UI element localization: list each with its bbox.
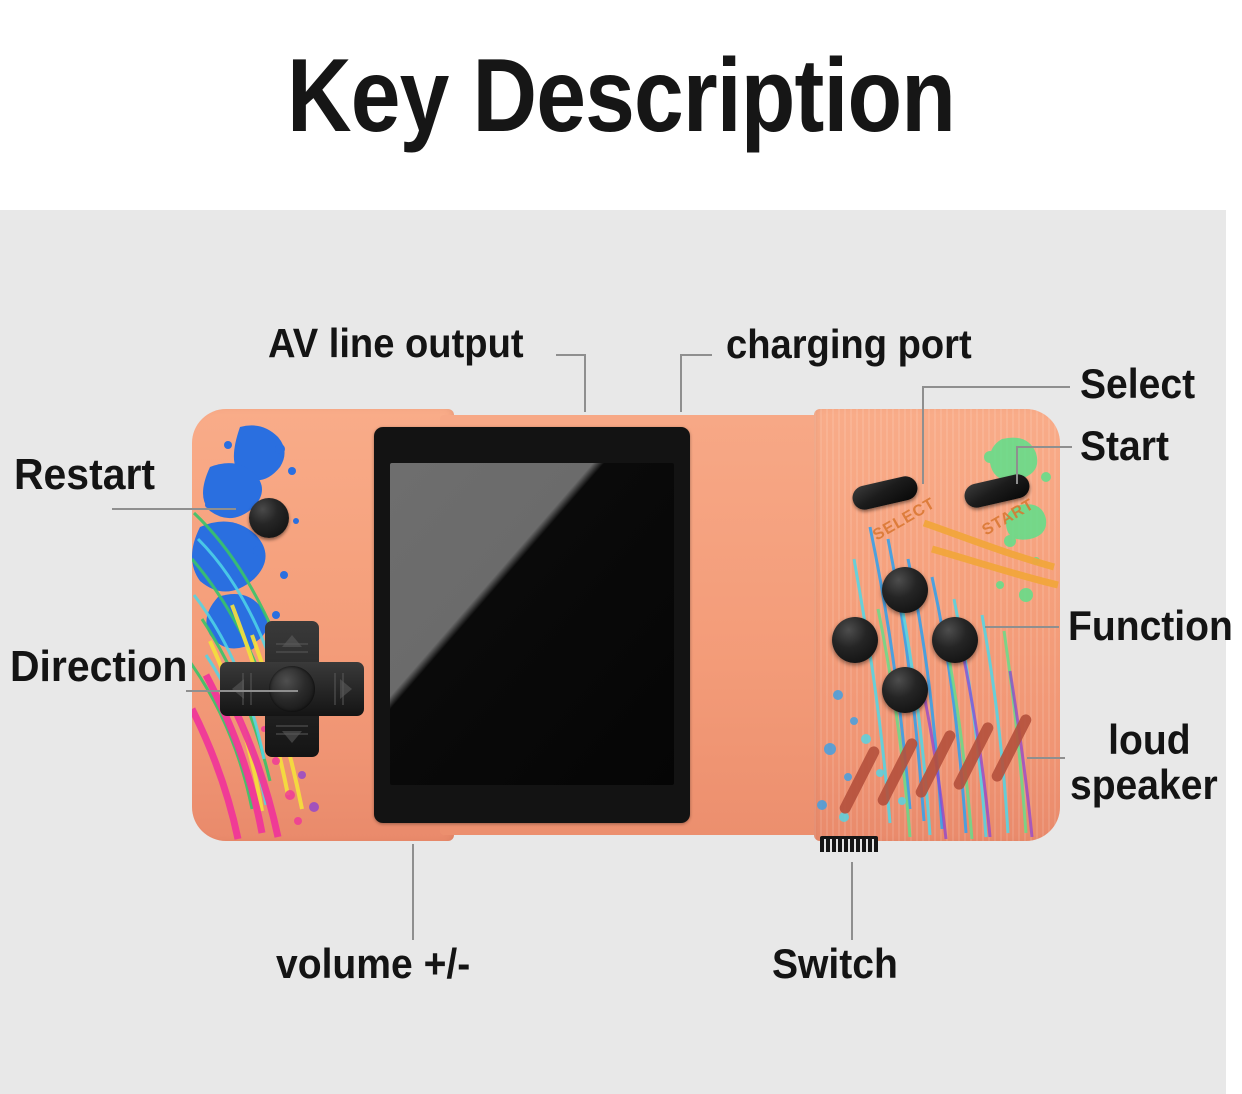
dpad-ridge	[334, 673, 336, 705]
power-switch-ridges	[820, 839, 878, 852]
dpad-ridge	[342, 673, 344, 705]
callout-label-start: Start	[1080, 424, 1169, 469]
leader-line-start-v	[1016, 446, 1018, 484]
dpad-ridge	[276, 725, 308, 727]
leader-line-select-v	[922, 386, 924, 484]
leader-line-direction	[186, 690, 298, 692]
callout-label-function: Function	[1068, 604, 1233, 649]
dpad-center-hub[interactable]	[269, 666, 315, 712]
leader-line-function	[985, 626, 1059, 628]
dpad-up-arrow-icon	[282, 635, 302, 647]
power-switch[interactable]	[820, 836, 878, 852]
dpad-ridge	[250, 673, 252, 705]
leader-line-switch	[851, 862, 853, 940]
console-screen-display	[390, 463, 674, 785]
action-button-top[interactable]	[882, 567, 928, 613]
action-button-left[interactable]	[832, 617, 878, 663]
function-button[interactable]	[932, 617, 978, 663]
leader-line-restart	[112, 508, 236, 510]
leader-line-av-h	[556, 354, 586, 356]
dpad-ridge	[276, 651, 308, 653]
callout-label-restart: Restart	[14, 452, 155, 499]
page-title: Key Description	[87, 44, 1155, 148]
callout-label-select: Select	[1080, 362, 1195, 407]
leader-line-start-h	[1016, 446, 1072, 448]
page-root: Key Description	[0, 0, 1242, 1094]
console-screen-bezel	[374, 427, 690, 823]
dpad-ridge	[276, 643, 308, 645]
callout-label-loud-speaker: loud speaker	[1081, 718, 1218, 807]
dpad-ridge	[276, 733, 308, 735]
right-edge-strip	[1226, 0, 1242, 1094]
action-button-bottom[interactable]	[882, 667, 928, 713]
leader-line-speaker	[1027, 757, 1065, 759]
callout-label-volume: volume +/-	[276, 942, 470, 987]
callout-label-charging-port: charging port	[726, 323, 972, 366]
callout-label-loud-speaker-line2: speaker	[1070, 763, 1218, 808]
callout-label-loud-speaker-line1: loud	[1108, 716, 1190, 763]
direction-pad[interactable]	[220, 621, 364, 757]
callout-label-direction: Direction	[10, 644, 187, 691]
dpad-ridge	[242, 673, 244, 705]
leader-line-av-v	[584, 354, 586, 412]
game-console-device: SELECT START	[192, 409, 1060, 841]
restart-button[interactable]	[249, 498, 289, 538]
leader-line-select-h	[922, 386, 1070, 388]
leader-line-charging-h	[680, 354, 712, 356]
leader-line-charging-v	[680, 354, 682, 412]
leader-line-volume	[412, 844, 414, 940]
callout-label-av-line-output: AV line output	[268, 322, 524, 365]
callout-label-switch: Switch	[772, 942, 898, 987]
